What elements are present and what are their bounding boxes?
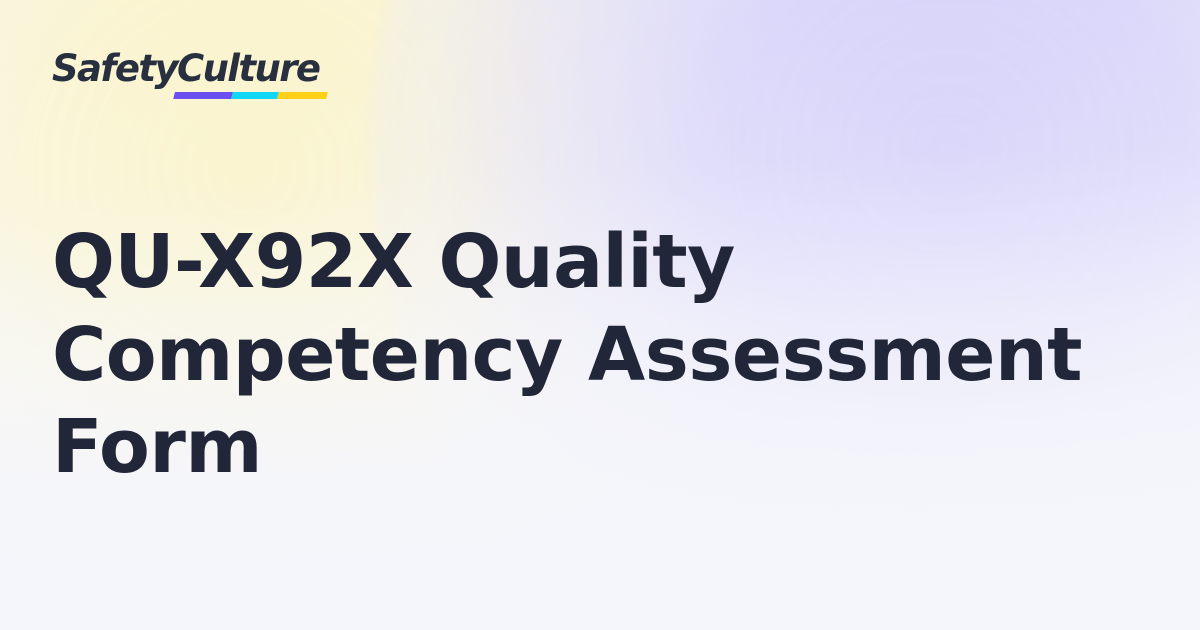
logo-wordmark: SafetyCulture	[52, 50, 319, 87]
brand-underline-bar	[173, 92, 328, 99]
underline-segment-purple	[173, 92, 233, 99]
safetyculture-logo: SafetyCulture	[52, 50, 319, 102]
og-card: SafetyCulture QU-X92X Quality Competency…	[0, 0, 1200, 630]
title-block: QU-X92X Quality Competency Assessment Fo…	[52, 216, 1122, 494]
underline-segment-cyan	[231, 92, 279, 99]
underline-segment-yellow	[277, 92, 328, 99]
logo-wordmark-safety: Safety	[52, 47, 177, 90]
page-title: QU-X92X Quality Competency Assessment Fo…	[52, 216, 1122, 494]
logo-wordmark-culture: Culture	[177, 47, 319, 90]
card-content: SafetyCulture QU-X92X Quality Competency…	[0, 0, 1200, 630]
logo-mark: SafetyCulture	[52, 50, 319, 99]
